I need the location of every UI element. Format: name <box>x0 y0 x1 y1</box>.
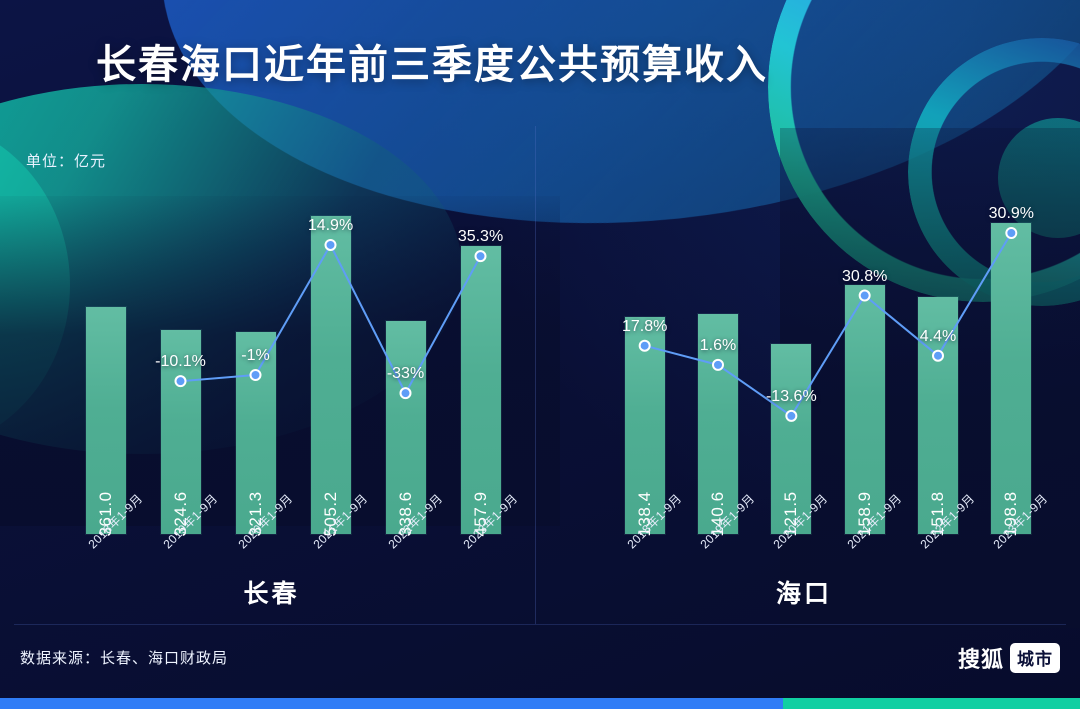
data-source-label: 数据来源：长春、海口财政局 <box>20 647 228 668</box>
trend-line-changchun <box>8 182 536 534</box>
panel-title-haikou: 海口 <box>536 574 1072 610</box>
stripe-green-segment <box>783 698 1080 709</box>
growth-label-haikou-2: -13.6% <box>766 388 817 406</box>
growth-label-changchun-1: -10.1% <box>155 353 206 371</box>
growth-label-changchun-4: -33% <box>387 365 424 383</box>
unit-label: 单位：亿元 <box>26 150 106 171</box>
growth-label-haikou-5: 30.9% <box>989 205 1034 223</box>
growth-label-haikou-0: 17.8% <box>622 318 667 336</box>
plot-area-changchun: 361.0324.6321.3505.2338.6457.9 -10.1%-1%… <box>8 182 535 534</box>
trend-marker-haikou-0[interactable] <box>640 341 650 351</box>
chart-board: 单位：亿元 361.0324.6321.3505.2338.6457.9 -10… <box>8 126 1072 624</box>
growth-label-changchun-3: 14.9% <box>308 217 353 235</box>
trend-marker-haikou-3[interactable] <box>860 291 870 301</box>
trend-marker-haikou-4[interactable] <box>933 351 943 361</box>
logo-badge-text: 城市 <box>1010 643 1060 673</box>
trend-marker-changchun-3[interactable] <box>326 240 336 250</box>
trend-marker-haikou-5[interactable] <box>1006 228 1016 238</box>
header: 长春海口近年前三季度公共预算收入 <box>0 0 1080 112</box>
stripe-blue-segment <box>0 698 783 709</box>
trend-marker-haikou-1[interactable] <box>713 360 723 370</box>
chart-panel-haikou: 138.4140.6121.5158.9151.8198.8 17.8%1.6%… <box>536 126 1072 624</box>
growth-label-haikou-1: 1.6% <box>700 337 736 355</box>
trend-marker-changchun-2[interactable] <box>251 370 261 380</box>
trend-marker-changchun-1[interactable] <box>176 376 186 386</box>
brand-logo: 搜狐 城市 <box>958 642 1060 674</box>
logo-main-text: 搜狐 <box>958 642 1004 674</box>
footer: 数据来源：长春、海口财政局 搜狐 城市 <box>0 624 1080 690</box>
page-title: 长春海口近年前三季度公共预算收入 <box>96 32 768 90</box>
trend-marker-changchun-5[interactable] <box>476 251 486 261</box>
growth-label-changchun-2: -1% <box>241 347 269 365</box>
growth-label-haikou-4: 4.4% <box>920 328 956 346</box>
bottom-accent-stripe <box>0 698 1080 709</box>
trend-marker-haikou-2[interactable] <box>786 411 796 421</box>
trend-line-haikou <box>536 182 1072 534</box>
chart-panel-changchun: 单位：亿元 361.0324.6321.3505.2338.6457.9 -10… <box>8 126 536 624</box>
panel-title-changchun: 长春 <box>8 574 535 610</box>
trend-line-path <box>181 245 481 393</box>
poster-canvas: 长春海口近年前三季度公共预算收入 单位：亿元 361.0324.6321.350… <box>0 0 1080 709</box>
trend-marker-changchun-4[interactable] <box>401 388 411 398</box>
growth-label-haikou-3: 30.8% <box>842 268 887 286</box>
plot-area-haikou: 138.4140.6121.5158.9151.8198.8 17.8%1.6%… <box>536 182 1072 534</box>
trend-line-path <box>645 233 1012 416</box>
growth-label-changchun-5: 35.3% <box>458 228 503 246</box>
footer-divider <box>14 624 1066 625</box>
